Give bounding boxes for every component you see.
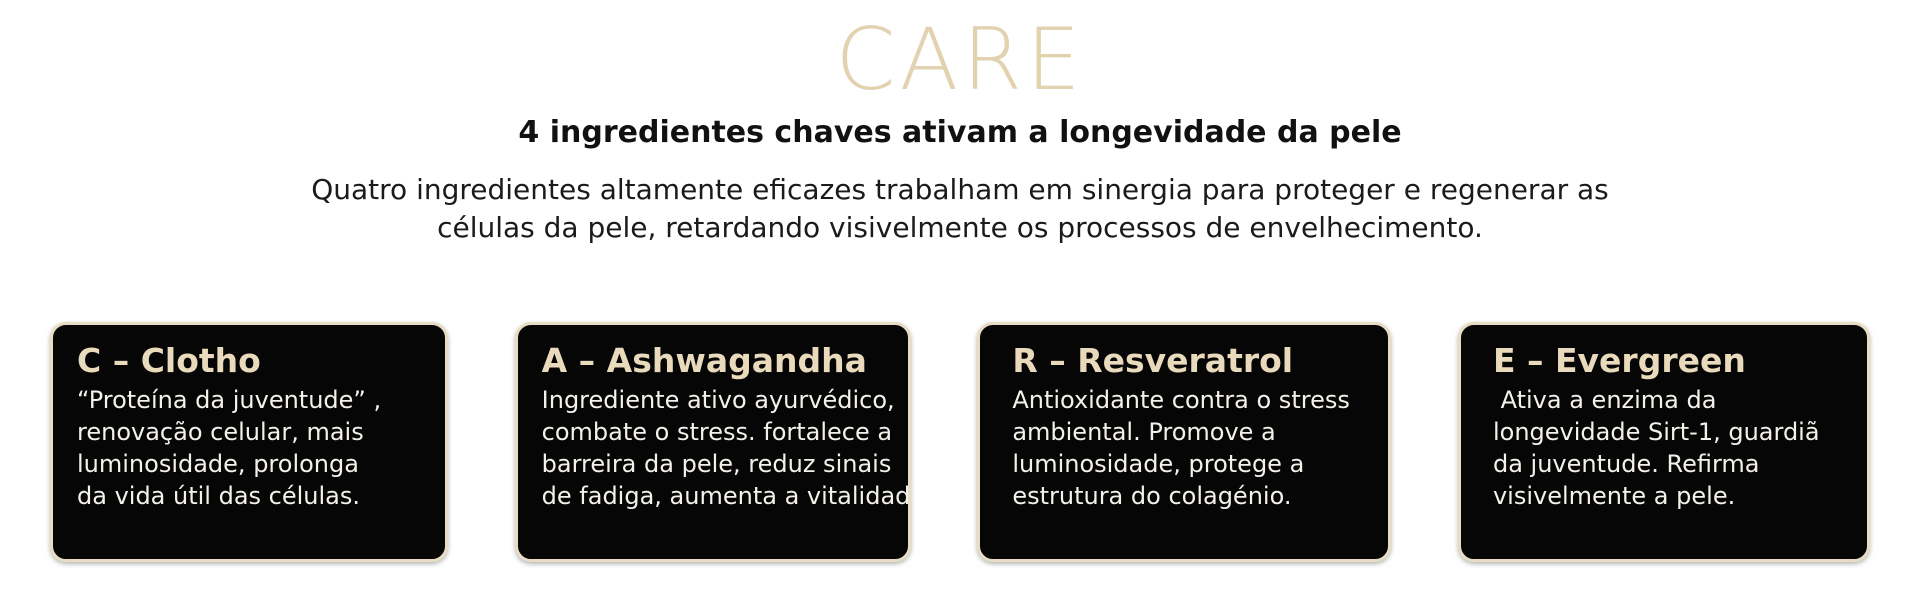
ingredient-card-body: Ingrediente ativo ayurvédico, combate o … [542, 384, 886, 513]
card-body-line: combate o stress. fortalece a [542, 416, 886, 448]
card-body-line: barreira da pele, reduz sinais [542, 448, 886, 480]
card-body-line: Antioxidante contra o stress [1012, 384, 1366, 416]
ingredient-card-row: C – Clotho “Proteína da juventude” , ren… [0, 322, 1920, 562]
ingredient-card-resveratrol[interactable]: R – Resveratrol Antioxidante contra o st… [977, 322, 1391, 562]
ingredient-card-body: Antioxidante contra o stress ambiental. … [1012, 384, 1366, 513]
card-body-line: luminosidade, prolonga [77, 448, 423, 480]
ingredient-card-body: “Proteína da juventude” , renovação celu… [77, 384, 423, 513]
brand-title: CARE [0, 18, 1920, 102]
card-body-line: da juventude. Refirma [1493, 448, 1845, 480]
subcopy-line-2: células da pele, retardando visivelmente… [250, 209, 1670, 248]
ingredient-card-title: R – Resveratrol [1012, 343, 1366, 380]
ingredient-card-title: E – Evergreen [1493, 343, 1845, 380]
ingredient-card-clotho[interactable]: C – Clotho “Proteína da juventude” , ren… [50, 322, 448, 562]
ingredient-card-title: A – Ashwagandha [542, 343, 886, 380]
page-headline: 4 ingredientes chaves ativam a longevida… [0, 116, 1920, 151]
card-body-line: ambiental. Promove a [1012, 416, 1366, 448]
card-body-line: “Proteína da juventude” , [77, 384, 423, 416]
card-body-line: Ingrediente ativo ayurvédico, [542, 384, 886, 416]
ingredient-card-evergreen[interactable]: E – Evergreen Ativa a enzima da longevid… [1458, 322, 1870, 562]
header-block: CARE 4 ingredientes chaves ativam a long… [0, 0, 1920, 248]
care-ingredients-slide: CARE 4 ingredientes chaves ativam a long… [0, 0, 1920, 600]
card-body-line: estrutura do colagénio. [1012, 480, 1366, 512]
card-body-line: Ativa a enzima da [1493, 384, 1845, 416]
card-body-line: luminosidade, protege a [1012, 448, 1366, 480]
card-body-line: renovação celular, mais [77, 416, 423, 448]
card-body-line: longevidade Sirt-1, guardiã [1493, 416, 1845, 448]
card-body-line: de fadiga, aumenta a vitalidade. [542, 480, 886, 512]
subcopy-line-1: Quatro ingredientes altamente eficazes t… [250, 171, 1670, 210]
ingredient-card-title: C – Clotho [77, 343, 423, 380]
card-body-line: visivelmente a pele. [1493, 480, 1845, 512]
page-subcopy: Quatro ingredientes altamente eficazes t… [250, 171, 1670, 248]
ingredient-card-ashwagandha[interactable]: A – Ashwagandha Ingrediente ativo ayurvé… [515, 322, 911, 562]
card-body-line: da vida útil das células. [77, 480, 423, 512]
ingredient-card-body: Ativa a enzima da longevidade Sirt-1, gu… [1493, 384, 1845, 513]
